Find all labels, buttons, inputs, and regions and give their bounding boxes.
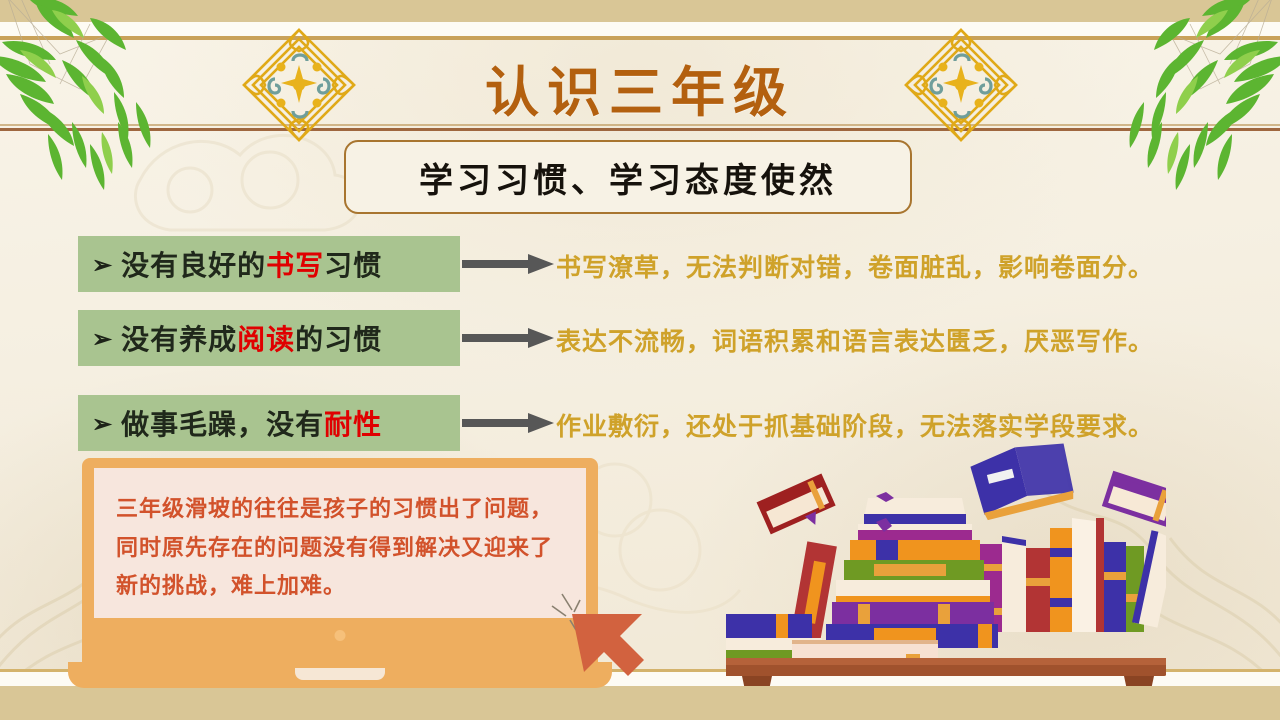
top-border-gap	[0, 22, 1280, 36]
laptop-trackpad-notch	[295, 668, 385, 680]
bullet-label-prefix-1: 没有良好的	[121, 244, 266, 284]
bullet-caret-icon-2: ➢	[92, 324, 113, 353]
right-arrow-icon-1	[462, 254, 554, 274]
books-on-shelf-illustration	[726, 436, 1166, 686]
detail-text-1: 书写潦草，无法判断对错，卷面脏乱，影响卷面分。	[556, 248, 1272, 284]
detail-text-2: 表达不流畅，词语积累和语言表达匮乏，厌恶写作。	[556, 322, 1272, 358]
laptop-illustration: 三年级滑坡的往往是孩子的习惯出了问题，同时原先存在的问题没有得到解决又迎来了新的…	[82, 458, 598, 670]
right-arrow-icon-3	[462, 413, 554, 433]
top-border-gold-line	[0, 36, 1280, 40]
page-title: 认识三年级	[0, 48, 1280, 127]
bullet-label-highlight-2: 阅读	[237, 318, 295, 358]
bullet-label-box-1[interactable]: ➢ 没有良好的 书写 习惯	[78, 236, 460, 292]
bottom-border-band	[0, 686, 1280, 720]
flying-open-book	[968, 436, 1077, 521]
bullet-row-1: ➢ 没有良好的 书写 习惯 书写潦草，无法判断对错，卷面脏乱，影响卷面分。	[0, 236, 1280, 292]
bullet-label-box-2[interactable]: ➢ 没有养成 阅读 的习惯	[78, 310, 460, 366]
bullet-label-prefix-3: 做事毛躁，没有	[121, 403, 324, 443]
gold-diamond-ornament-right-icon	[902, 26, 1020, 144]
bullet-label-box-3[interactable]: ➢ 做事毛躁，没有 耐性	[78, 395, 460, 451]
bullet-row-2: ➢ 没有养成 阅读 的习惯 表达不流畅，词语积累和语言表达匮乏，厌恶写作。	[0, 310, 1280, 366]
bullet-caret-icon-1: ➢	[92, 250, 113, 279]
arrow-cursor-icon[interactable]	[546, 586, 686, 676]
top-border-band	[0, 0, 1280, 22]
bullet-caret-icon-3: ➢	[92, 409, 113, 438]
note-text: 三年级滑坡的往往是孩子的习惯出了问题，同时原先存在的问题没有得到解决又迎来了新的…	[116, 490, 568, 606]
bullet-label-suffix-1: 习惯	[324, 244, 382, 284]
laptop-camera-dot-icon	[335, 630, 346, 641]
bullet-label-suffix-2: 的习惯	[295, 318, 382, 358]
bullet-label-highlight-3: 耐性	[324, 403, 382, 443]
bullet-label-prefix-2: 没有养成	[121, 318, 237, 358]
header-rule-primary	[0, 128, 1280, 131]
bullet-label-highlight-1: 书写	[266, 244, 324, 284]
subtitle-text: 学习习惯、学习态度使然	[419, 153, 837, 202]
right-arrow-icon-2	[462, 328, 554, 348]
gold-diamond-ornament-left-icon	[240, 26, 358, 144]
slide-canvas: 认识三年级	[0, 0, 1280, 720]
subtitle-pill: 学习习惯、学习态度使然	[344, 140, 912, 214]
